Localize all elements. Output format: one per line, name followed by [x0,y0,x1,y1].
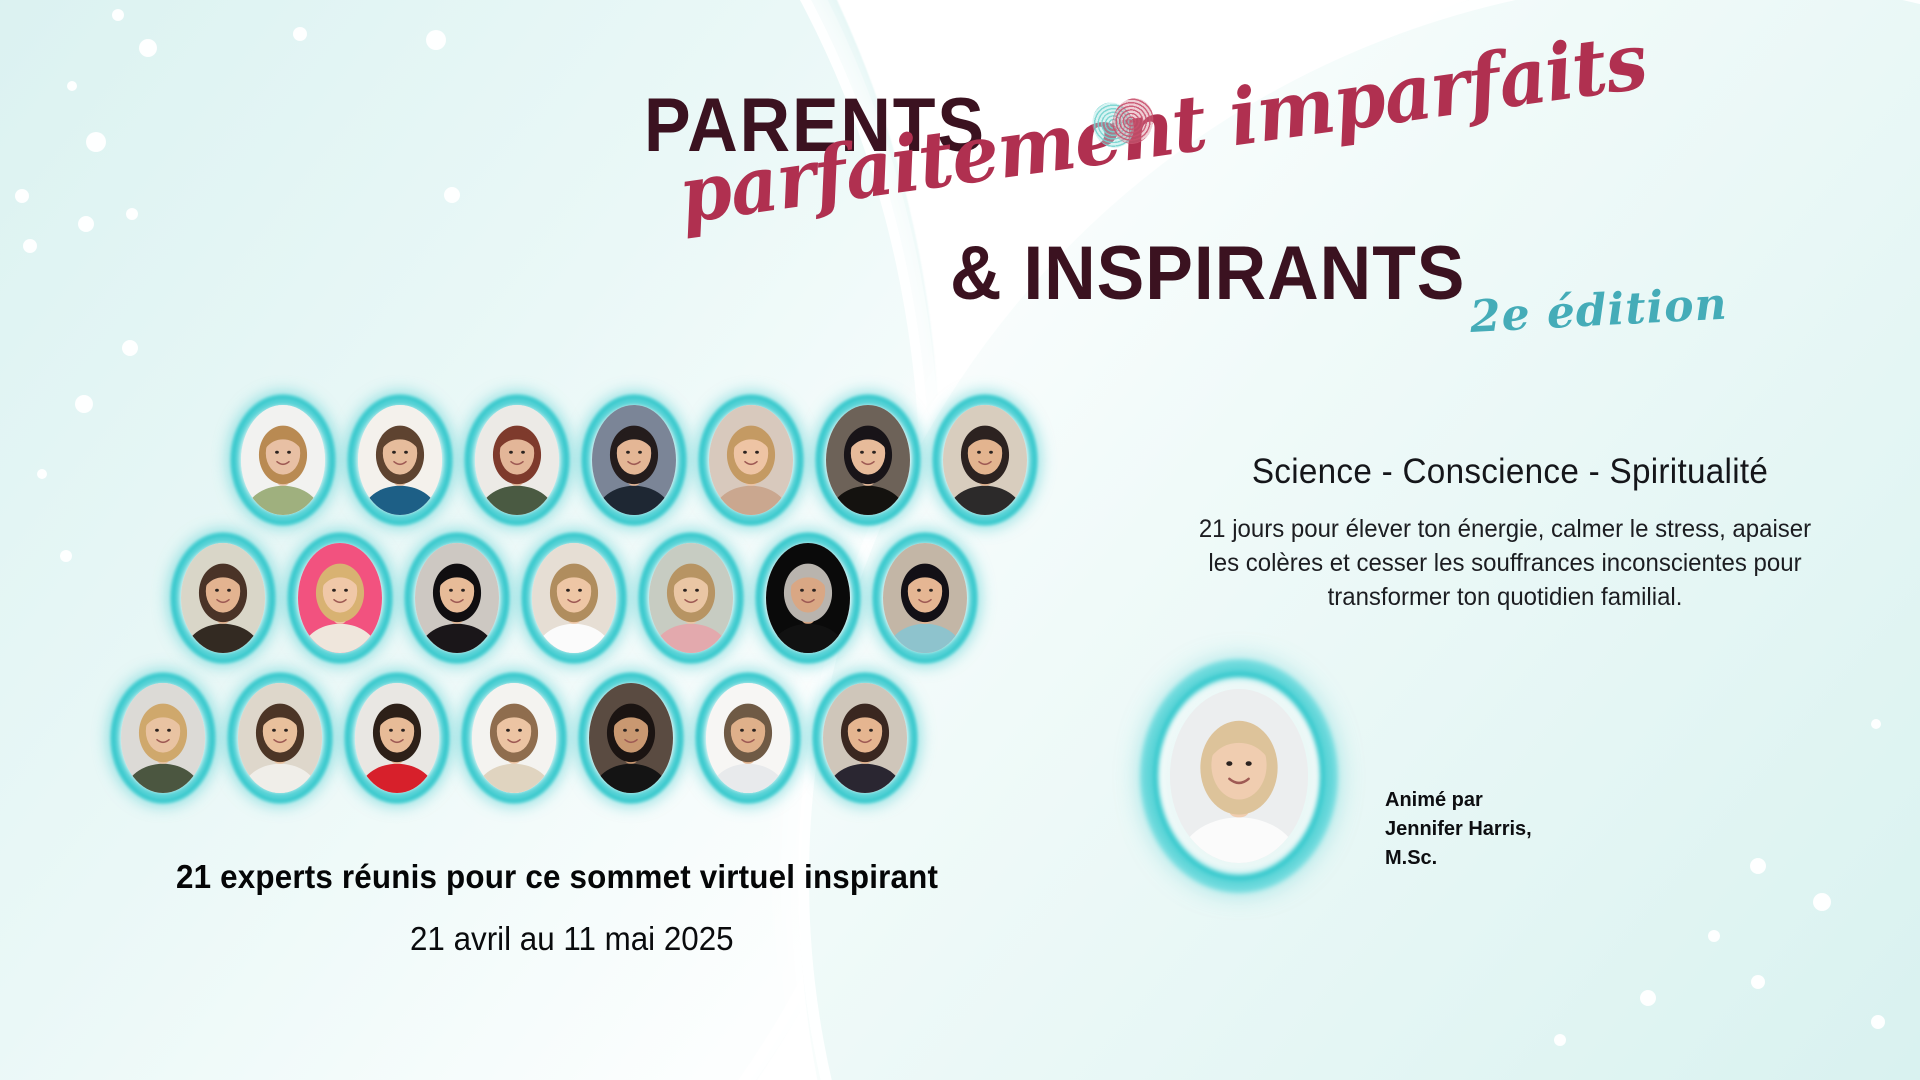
speaker-avatar [353,400,447,520]
portrait-illustration [592,405,676,515]
summit-promo-banner: PARENTS parfaitement imparfaits & INSPIR… [0,0,1920,1080]
speaker-avatar [584,678,678,798]
speaker-avatar [587,400,681,520]
speakers-avatar-grid [0,0,1120,440]
decor-dot [60,550,72,562]
speaker-avatar-photo [943,405,1027,515]
portrait-illustration [472,683,556,793]
speaker-avatar [878,538,972,658]
speaker-avatar [701,678,795,798]
speaker-avatar [350,678,444,798]
speaker-avatar-photo [298,543,382,653]
portrait-illustration [649,543,733,653]
decor-dot [1751,975,1765,989]
speaker-avatar-photo [472,683,556,793]
speaker-row-2 [176,538,995,658]
speaker-row-1 [236,400,1055,520]
speaker-avatar-photo [121,683,205,793]
portrait-illustration [883,543,967,653]
decor-dot [1554,1034,1566,1046]
speaker-avatar-photo [823,683,907,793]
portrait-illustration [826,405,910,515]
speaker-avatar [410,538,504,658]
speaker-avatar-photo [589,683,673,793]
speaker-avatar [818,678,912,798]
portrait-illustration [532,543,616,653]
speaker-avatar-photo [766,543,850,653]
decor-dot [1813,893,1831,911]
speaker-avatar-photo [358,405,442,515]
speaker-avatar [938,400,1032,520]
speaker-avatar [644,538,738,658]
speaker-avatar-photo [883,543,967,653]
host-portrait-photo [1170,689,1308,863]
portrait-illustration [415,543,499,653]
speaker-avatar-photo [592,405,676,515]
speaker-avatar [293,538,387,658]
portrait-illustration [766,543,850,653]
portrait-illustration [706,683,790,793]
speaker-avatar-photo [241,405,325,515]
speaker-avatar [176,538,270,658]
tagline-body: 21 jours pour élever ton énergie, calmer… [1188,513,1822,614]
host-credit: Animé par Jennifer Harris, M.Sc. [1385,786,1532,873]
event-dates-line: 21 avril au 11 mai 2025 [410,920,734,958]
speaker-avatar [233,678,327,798]
portrait-illustration [121,683,205,793]
decor-dot [1871,719,1881,729]
portrait-illustration [241,405,325,515]
portrait-illustration [589,683,673,793]
speaker-avatar-photo [709,405,793,515]
speaker-avatar-photo [532,543,616,653]
speaker-avatar [527,538,621,658]
portrait-illustration [1170,689,1308,863]
decor-dot [1871,1015,1885,1029]
speaker-avatar [116,678,210,798]
speaker-avatar-photo [826,405,910,515]
speaker-avatar [704,400,798,520]
speaker-avatar [467,678,561,798]
decor-dot [37,469,47,479]
portrait-illustration [355,683,439,793]
speaker-avatar-photo [649,543,733,653]
tagline-heading: Science - Conscience - Spiritualité [1206,452,1814,492]
portrait-illustration [238,683,322,793]
portrait-illustration [943,405,1027,515]
portrait-illustration [181,543,265,653]
speaker-avatar-photo [355,683,439,793]
decor-dot [1640,990,1656,1006]
experts-count-line: 21 experts réunis pour ce sommet virtuel… [176,858,938,896]
portrait-illustration [823,683,907,793]
speaker-avatar [470,400,564,520]
speaker-avatar-photo [706,683,790,793]
speaker-row-3 [116,678,935,798]
speaker-avatar [761,538,855,658]
speaker-avatar-photo [475,405,559,515]
decor-dot [1750,858,1766,874]
speaker-avatar [821,400,915,520]
speaker-avatar-photo [415,543,499,653]
speaker-avatar-photo [238,683,322,793]
decor-dot [1708,930,1720,942]
portrait-illustration [709,405,793,515]
host-portrait [1158,677,1320,875]
portrait-illustration [475,405,559,515]
speaker-avatar-photo [181,543,265,653]
speaker-avatar [236,400,330,520]
portrait-illustration [298,543,382,653]
portrait-illustration [358,405,442,515]
